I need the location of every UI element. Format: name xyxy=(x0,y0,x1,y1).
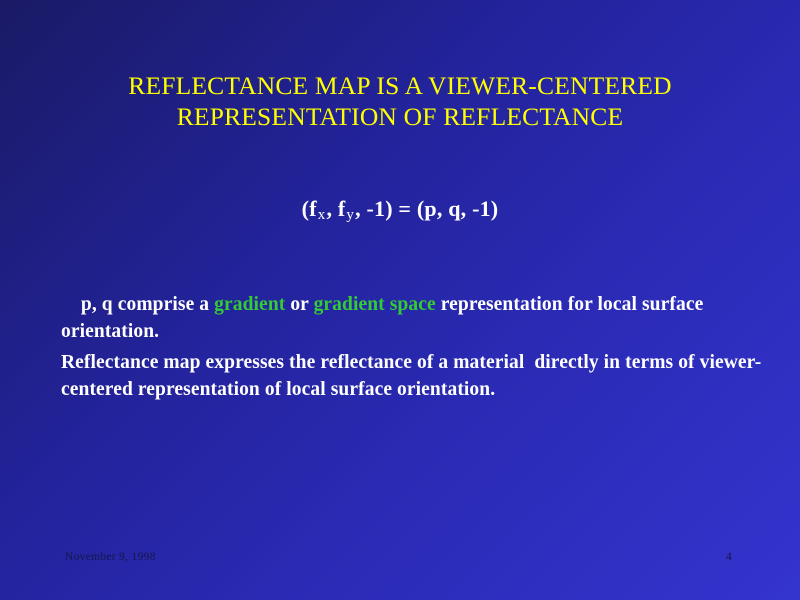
formula-tail: , -1) = (p, q, -1) xyxy=(355,196,498,221)
paragraph-gradient-highlight-2: gradient space xyxy=(314,294,436,315)
formula-open: (f xyxy=(302,196,317,221)
formula-subscript-x: x xyxy=(317,207,327,223)
paragraph-reflectance: Reflectance map expresses the reflectanc… xyxy=(61,349,796,403)
slide-footer: November 9, 1998 4 xyxy=(0,551,800,571)
formula-subscript-y: y xyxy=(345,207,355,223)
paragraph-gradient-highlight-1: gradient xyxy=(214,294,285,315)
slide-canvas: REFLECTANCE MAP IS A VIEWER-CENTERED REP… xyxy=(0,0,800,600)
formula-comma-1: , f xyxy=(326,196,345,221)
paragraph-gradient-text-1: p, q comprise a xyxy=(81,294,214,315)
footer-date: November 9, 1998 xyxy=(65,551,156,563)
slide-title: REFLECTANCE MAP IS A VIEWER-CENTERED REP… xyxy=(40,70,760,132)
formula-line: (fx, fy, -1) = (p, q, -1) xyxy=(40,196,760,228)
footer-page-number: 4 xyxy=(726,551,732,563)
paragraph-gradient-text-2: or xyxy=(285,294,313,315)
